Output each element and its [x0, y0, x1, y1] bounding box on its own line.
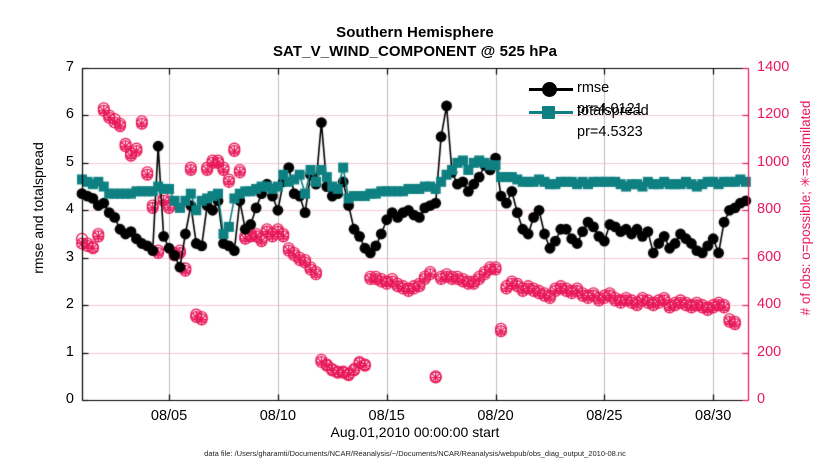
x-tick-08/20: 08/20	[456, 408, 536, 424]
y-axis-label-left: rmse and totalspread	[30, 78, 46, 338]
y-tick-right-200: 200	[757, 344, 803, 360]
x-tick-08/15: 08/15	[347, 408, 427, 424]
y-tick-right-600: 600	[757, 249, 803, 265]
y-tick-left-3: 3	[48, 249, 74, 265]
x-tick-08/30: 08/30	[673, 408, 753, 424]
data-file-caption: data file: /Users/gharamti/Documents/NCA…	[0, 449, 830, 458]
y-tick-right-0: 0	[757, 391, 803, 407]
legend-marker-square-icon	[542, 106, 555, 119]
y-tick-right-800: 800	[757, 201, 803, 217]
y-tick-right-1000: 1000	[757, 154, 803, 170]
figure-panel: Southern Hemisphere SAT_V_WIND_COMPONENT…	[0, 0, 830, 470]
chart-canvas	[0, 0, 830, 470]
y-tick-right-1400: 1400	[757, 59, 803, 75]
chart-legend: rmse pr=4.0121totalspread pr=4.5323	[525, 78, 747, 124]
legend-label: totalspread pr=4.5323	[577, 101, 649, 143]
y-tick-left-4: 4	[48, 201, 74, 217]
x-tick-08/25: 08/25	[564, 408, 644, 424]
y-tick-left-5: 5	[48, 154, 74, 170]
y-tick-right-1200: 1200	[757, 106, 803, 122]
chart-title-line2: SAT_V_WIND_COMPONENT @ 525 hPa	[0, 43, 830, 60]
y-tick-left-1: 1	[48, 344, 74, 360]
y-tick-left-2: 2	[48, 296, 74, 312]
y-tick-left-0: 0	[48, 391, 74, 407]
y-tick-right-400: 400	[757, 296, 803, 312]
y-tick-left-6: 6	[48, 106, 74, 122]
chart-title-line1: Southern Hemisphere	[0, 24, 830, 41]
x-axis-label: Aug.01,2010 00:00:00 start	[0, 424, 830, 440]
legend-marker-circle-icon	[542, 82, 557, 97]
x-tick-08/10: 08/10	[238, 408, 318, 424]
x-tick-08/05: 08/05	[129, 408, 209, 424]
y-tick-left-7: 7	[48, 59, 74, 75]
